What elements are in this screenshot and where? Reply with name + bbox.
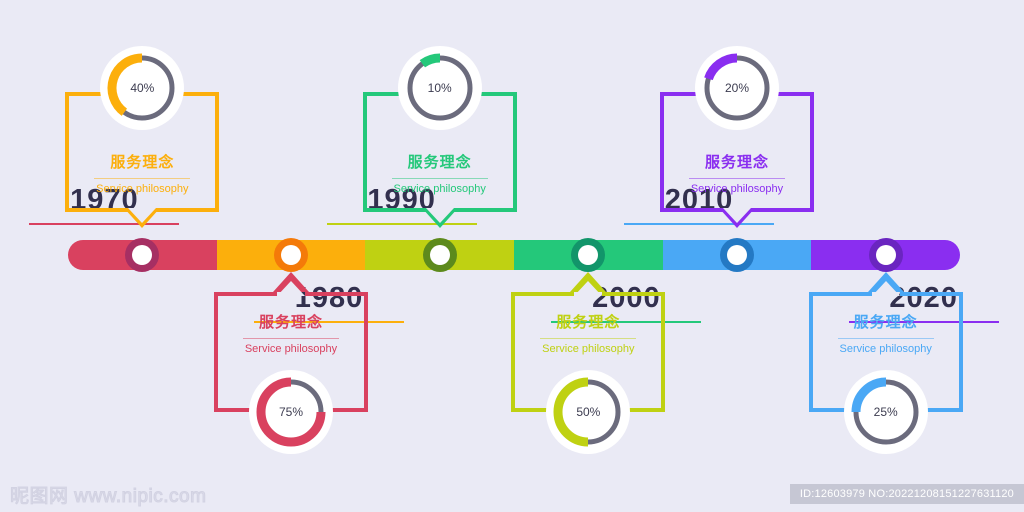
callout-card[interactable]: 服务理念Service philosophy 20% <box>660 92 814 212</box>
card-title-divider <box>838 338 934 339</box>
callout-card[interactable]: 服务理念Service philosophy 40% <box>65 92 219 212</box>
donut-chart: 50% <box>546 370 630 454</box>
card-text-block: 服务理念Service philosophy <box>363 154 517 196</box>
card-pointer-inner <box>128 208 156 223</box>
watermark: 昵图网 www.nipic.com <box>10 481 206 508</box>
donut-chart: 10% <box>398 46 482 130</box>
card-title-divider <box>689 178 785 179</box>
timeline-node-dot <box>876 245 896 265</box>
card-title-en: Service philosophy <box>511 343 665 356</box>
timeline-node-dot <box>132 245 152 265</box>
timeline-node[interactable] <box>274 238 308 272</box>
donut-chart: 75% <box>249 370 333 454</box>
timeline-node-dot <box>430 245 450 265</box>
card-text-block: 服务理念Service philosophy <box>65 154 219 196</box>
donut-chart: 25% <box>844 370 928 454</box>
timeline-node[interactable] <box>869 238 903 272</box>
timeline-node-dot <box>578 245 598 265</box>
callout-card[interactable]: 服务理念Service philosophy 25% <box>809 292 963 412</box>
card-title-cn: 服务理念 <box>363 154 517 173</box>
card-title-cn: 服务理念 <box>511 314 665 333</box>
card-title-divider <box>392 178 488 179</box>
card-text-block: 服务理念Service philosophy <box>809 314 963 356</box>
card-pointer-inner <box>277 281 305 296</box>
infographic-canvas: 197019801990200020102020 服务理念Service phi… <box>0 0 1024 512</box>
card-title-divider <box>540 338 636 339</box>
card-title-en: Service philosophy <box>363 183 517 196</box>
bracket-top-right <box>602 292 665 296</box>
card-title-en: Service philosophy <box>660 183 814 196</box>
bracket-bottom-left <box>65 208 128 212</box>
card-title-cn: 服务理念 <box>660 154 814 173</box>
timeline-node[interactable] <box>720 238 754 272</box>
card-pointer-inner <box>872 281 900 296</box>
donut-percent-label: 20% <box>695 46 779 130</box>
donut-percent-label: 40% <box>100 46 184 130</box>
donut-percent-label: 10% <box>398 46 482 130</box>
bracket-bottom-right <box>156 208 219 212</box>
card-title-divider <box>94 178 190 179</box>
card-title-en: Service philosophy <box>809 343 963 356</box>
card-title-en: Service philosophy <box>214 343 368 356</box>
card-text-block: 服务理念Service philosophy <box>214 314 368 356</box>
card-title-cn: 服务理念 <box>214 314 368 333</box>
bracket-bottom-left <box>363 208 426 212</box>
bracket-bottom-right <box>454 208 517 212</box>
bracket-top-right <box>900 292 963 296</box>
callout-card[interactable]: 服务理念Service philosophy 75% <box>214 292 368 412</box>
donut-percent-label: 75% <box>249 370 333 454</box>
bracket-top-left <box>809 292 872 296</box>
card-pointer-inner <box>574 281 602 296</box>
bracket-bottom-right <box>751 208 814 212</box>
bracket-top-right <box>305 292 368 296</box>
bracket-top-left <box>214 292 277 296</box>
timeline-node[interactable] <box>423 238 457 272</box>
donut-percent-label: 25% <box>844 370 928 454</box>
timeline-node-dot <box>281 245 301 265</box>
callout-card[interactable]: 服务理念Service philosophy 50% <box>511 292 665 412</box>
card-text-block: 服务理念Service philosophy <box>511 314 665 356</box>
card-pointer-inner <box>426 208 454 223</box>
bracket-top-left <box>511 292 574 296</box>
card-title-cn: 服务理念 <box>809 314 963 333</box>
card-title-en: Service philosophy <box>65 183 219 196</box>
card-title-divider <box>243 338 339 339</box>
donut-percent-label: 50% <box>546 370 630 454</box>
card-title-cn: 服务理念 <box>65 154 219 173</box>
card-pointer-inner <box>723 208 751 223</box>
timeline-bar <box>68 240 960 270</box>
card-text-block: 服务理念Service philosophy <box>660 154 814 196</box>
image-id-badge: ID:12603979 NO:20221208151227631120 <box>790 484 1024 504</box>
donut-chart: 40% <box>100 46 184 130</box>
bracket-bottom-left <box>660 208 723 212</box>
donut-chart: 20% <box>695 46 779 130</box>
callout-card[interactable]: 服务理念Service philosophy 10% <box>363 92 517 212</box>
timeline-node-dot <box>727 245 747 265</box>
